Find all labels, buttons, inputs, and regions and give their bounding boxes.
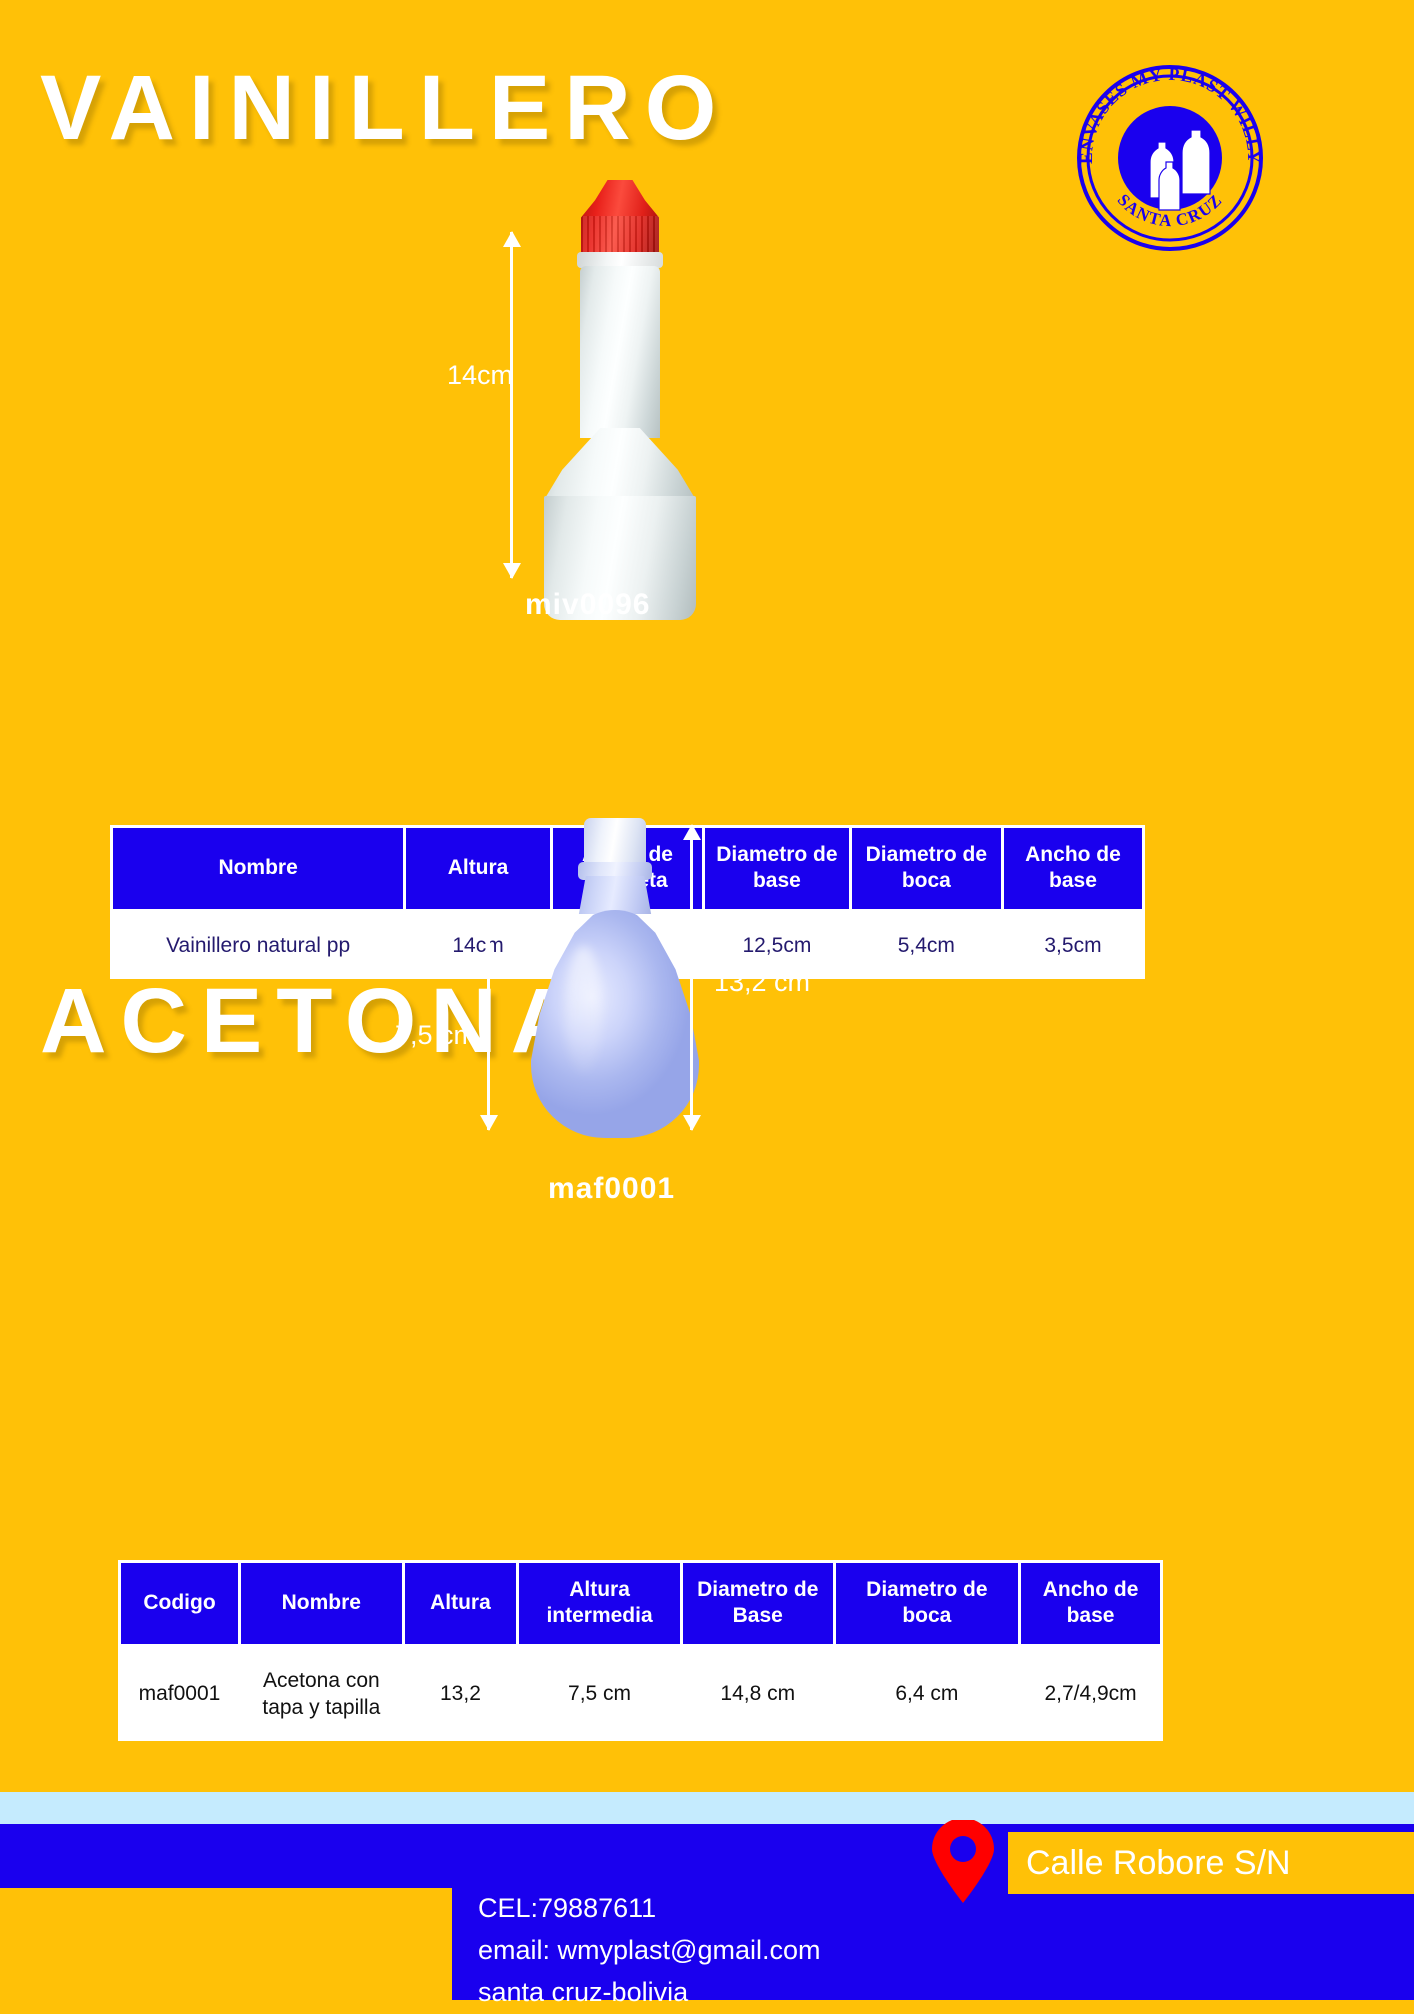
- cell-altura-intermedia: 7,5 cm: [518, 1645, 682, 1741]
- footer-accent-block: [0, 1888, 452, 2000]
- arrow-head-up-icon: [480, 924, 498, 940]
- column-header-ancho-base: Ancho de base: [1002, 827, 1143, 911]
- dimension-label-vainillero-height: 14cm: [447, 360, 513, 391]
- cell-nombre: Acetona con tapa y tapilla: [240, 1645, 404, 1741]
- bottle-neck: [580, 266, 660, 438]
- dimension-arrow-acetona-intermediate: [487, 925, 490, 1130]
- product-code-acetona: maf0001: [548, 1172, 675, 1206]
- dimension-arrow-vainillero-height: [510, 232, 513, 578]
- cell-altura: 13,2: [403, 1645, 518, 1741]
- cell-diametro-base: 14,8 cm: [681, 1645, 834, 1741]
- cell-nombre: Vainillero natural pp: [112, 910, 405, 979]
- arrow-head-down-icon: [683, 1115, 701, 1131]
- arrow-head-up-icon: [683, 824, 701, 840]
- column-header-ancho-base: Ancho de base: [1020, 1562, 1162, 1646]
- bottle-body: [531, 910, 699, 1138]
- footer-email: email: wmyplast@gmail.com: [478, 1930, 820, 1972]
- product-code-vainillero: miv0096: [525, 588, 650, 622]
- cell-diametro-boca: 6,4 cm: [834, 1645, 1019, 1741]
- arrow-head-down-icon: [480, 1115, 498, 1131]
- bottle-neck: [572, 876, 658, 914]
- footer-phone: CEL:79887611: [478, 1888, 820, 1930]
- footer-address: Calle Robore S/N: [1008, 1844, 1291, 1883]
- arrow-head-up-icon: [503, 231, 521, 247]
- footer-address-badge: Calle Robore S/N: [1008, 1832, 1414, 1894]
- column-header-nombre: Nombre: [240, 1562, 404, 1646]
- location-pin-icon: [930, 1820, 996, 1904]
- dimension-label-acetona-height: 13,2 cm: [714, 967, 810, 998]
- product-image-vainillero: [495, 180, 745, 620]
- column-header-diametro-boca: Diametro de boca: [834, 1562, 1019, 1646]
- table-row: maf0001 Acetona con tapa y tapilla 13,2 …: [120, 1645, 1162, 1741]
- bottle-cap-red: [581, 180, 659, 258]
- column-header-codigo: Codigo: [120, 1562, 240, 1646]
- bottle-highlight: [565, 946, 602, 1074]
- dimension-arrow-acetona-height: [690, 825, 693, 1130]
- column-header-diametro-boca: Diametro de boca: [850, 827, 1002, 911]
- footer-location: santa cruz-bolivia: [478, 1972, 820, 2014]
- company-logo: ENVASES MY PLAST WILLY SANTA CRUZ: [1070, 58, 1270, 258]
- cell-ancho-base: 2,7/4,9cm: [1020, 1645, 1162, 1741]
- footer-contact-info: CEL:79887611 email: wmyplast@gmail.com s…: [478, 1888, 820, 2014]
- bottle-shoulder: [544, 428, 696, 500]
- column-header-altura: Altura: [403, 1562, 518, 1646]
- column-header-diametro-base: Diametro de Base: [681, 1562, 834, 1646]
- cell-ancho-base: 3,5cm: [1002, 910, 1143, 979]
- page-title-vainillero: VAINILLERO: [40, 62, 730, 154]
- table-header-row: Codigo Nombre Altura Altura intermedia D…: [120, 1562, 1162, 1646]
- arrow-head-down-icon: [503, 563, 521, 579]
- cell-codigo: maf0001: [120, 1645, 240, 1741]
- dimension-label-acetona-intermediate: 7,5 cm: [395, 1020, 476, 1051]
- spec-table-acetona: Codigo Nombre Altura Altura intermedia D…: [118, 1560, 1163, 1741]
- bottle-cap-white: [584, 818, 646, 866]
- cell-diametro-boca: 5,4cm: [850, 910, 1002, 979]
- column-header-altura-intermedia: Altura intermedia: [518, 1562, 682, 1646]
- column-header-nombre: Nombre: [112, 827, 405, 911]
- footer-top-stripe: [0, 1792, 1414, 1824]
